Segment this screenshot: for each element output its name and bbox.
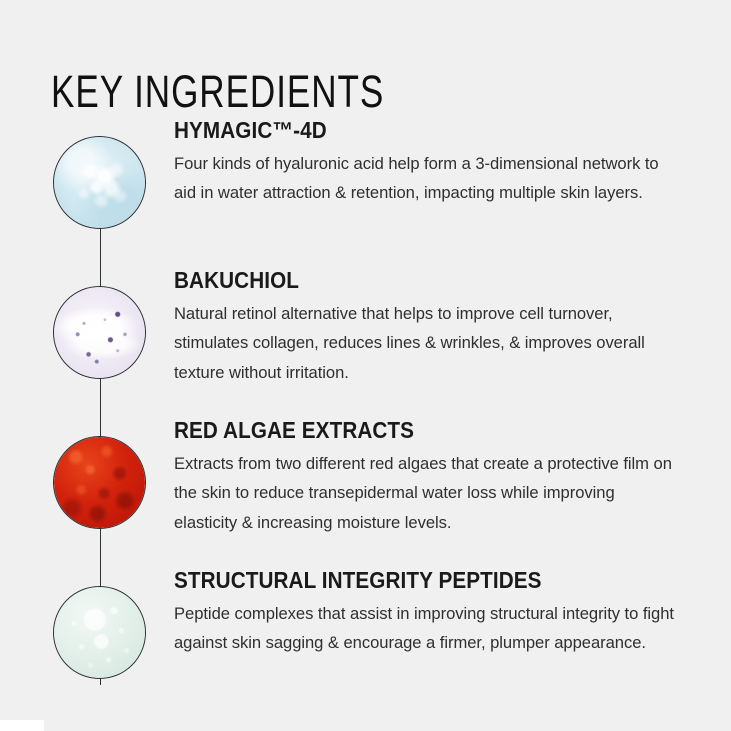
ingredient-description: Natural retinol alternative that helps t… [174, 299, 674, 388]
mint-gel-swatch [53, 586, 146, 679]
page-title: KEY INGREDIENTS [51, 68, 384, 115]
ingredient-title: STRUCTURAL INTEGRITY PEPTIDES [174, 568, 624, 593]
ingredient-title: BAKUCHIOL [174, 268, 624, 293]
ingredients-infographic: KEY INGREDIENTS HYMAGIC™-4D Four kinds o… [0, 0, 731, 731]
ingredient-text-block: RED ALGAE EXTRACTS Extracts from two dif… [174, 418, 674, 537]
red-powder-texture [54, 437, 145, 528]
lavender-cream-swatch [53, 286, 146, 379]
ingredient-text-block: HYMAGIC™-4D Four kinds of hyaluronic aci… [174, 118, 674, 208]
ingredient-description: Four kinds of hyaluronic acid help form … [174, 149, 674, 208]
lavender-cream-texture [54, 287, 145, 378]
ingredient-text-block: BAKUCHIOL Natural retinol alternative th… [174, 268, 674, 387]
ingredient-text-block: STRUCTURAL INTEGRITY PEPTIDES Peptide co… [174, 568, 674, 658]
mint-gel-texture [54, 587, 145, 678]
ingredient-title: RED ALGAE EXTRACTS [174, 418, 624, 443]
blue-gel-texture [54, 137, 145, 228]
ingredient-description: Peptide complexes that assist in improvi… [174, 599, 674, 658]
corner-notch [0, 720, 44, 731]
ingredient-description: Extracts from two different red algaes t… [174, 449, 674, 538]
red-powder-swatch [53, 436, 146, 529]
blue-gel-swatch [53, 136, 146, 229]
ingredient-title: HYMAGIC™-4D [174, 118, 624, 143]
